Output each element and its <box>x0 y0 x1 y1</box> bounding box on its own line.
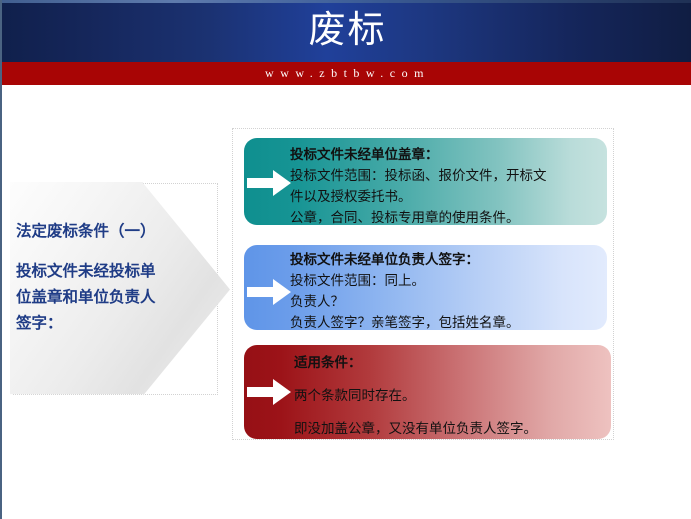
left-arrow-body-line-3: 签字： <box>16 310 212 336</box>
callout-text-block: 投标文件未经单位负责人签字： 投标文件范围：同上。 负责人？ 负责人签字？亲笔签… <box>290 250 601 330</box>
callout-text-block: 投标文件未经单位盖章： 投标文件范围：投标函、报价文件，开标文 件以及授权委托书… <box>290 145 601 225</box>
header-top-highlight <box>2 0 691 3</box>
site-url-label: www.zbtbw.com <box>2 62 691 85</box>
callout-line-1: 两个条款同时存在。 <box>294 386 605 407</box>
spacer <box>16 244 212 258</box>
right-arrow-icon <box>247 379 291 405</box>
callout-box-conditions[interactable]: 适用条件： 两个条款同时存在。 即没加盖公章，又没有单位负责人签字。 <box>244 345 611 439</box>
left-arrow-body-line-2: 位盖章和单位负责人 <box>16 284 212 310</box>
left-arrow-heading: 法定废标条件（一） <box>16 218 212 244</box>
callout-title: 投标文件未经单位盖章： <box>290 145 601 166</box>
callout-line-3: 负责人签字？亲笔签字，包括姓名章。 <box>290 313 601 330</box>
callout-line-2: 负责人？ <box>290 292 601 313</box>
callout-line-1: 投标文件范围：同上。 <box>290 271 601 292</box>
right-arrow-icon <box>247 170 291 196</box>
callout-line-2: 即没加盖公章，又没有单位负责人签字。 <box>294 419 605 439</box>
callout-title: 适用条件： <box>294 353 605 374</box>
left-arrow-text-block: 法定废标条件（一） 投标文件未经投标单 位盖章和单位负责人 签字： <box>16 218 212 336</box>
right-arrow-icon <box>247 279 291 305</box>
callout-line-1: 投标文件范围：投标函、报价文件，开标文 <box>290 166 601 187</box>
slide-canvas: 废标 www.zbtbw.com 法定废标条件（一） 投标文件未经投标单 位盖章… <box>0 0 691 519</box>
callout-title: 投标文件未经单位负责人签字： <box>290 250 601 271</box>
left-arrow-body-line-1: 投标文件未经投标单 <box>16 258 212 284</box>
callout-box-signature[interactable]: 投标文件未经单位负责人签字： 投标文件范围：同上。 负责人？ 负责人签字？亲笔签… <box>244 245 607 330</box>
page-title: 废标 <box>2 6 691 54</box>
callout-line-2: 件以及授权委托书。 <box>290 187 601 208</box>
callout-box-seal[interactable]: 投标文件未经单位盖章： 投标文件范围：投标函、报价文件，开标文 件以及授权委托书… <box>244 138 607 225</box>
callout-line-3: 公章，合同、投标专用章的使用条件。 <box>290 208 601 225</box>
callout-text-block: 适用条件： 两个条款同时存在。 即没加盖公章，又没有单位负责人签字。 <box>294 353 605 439</box>
